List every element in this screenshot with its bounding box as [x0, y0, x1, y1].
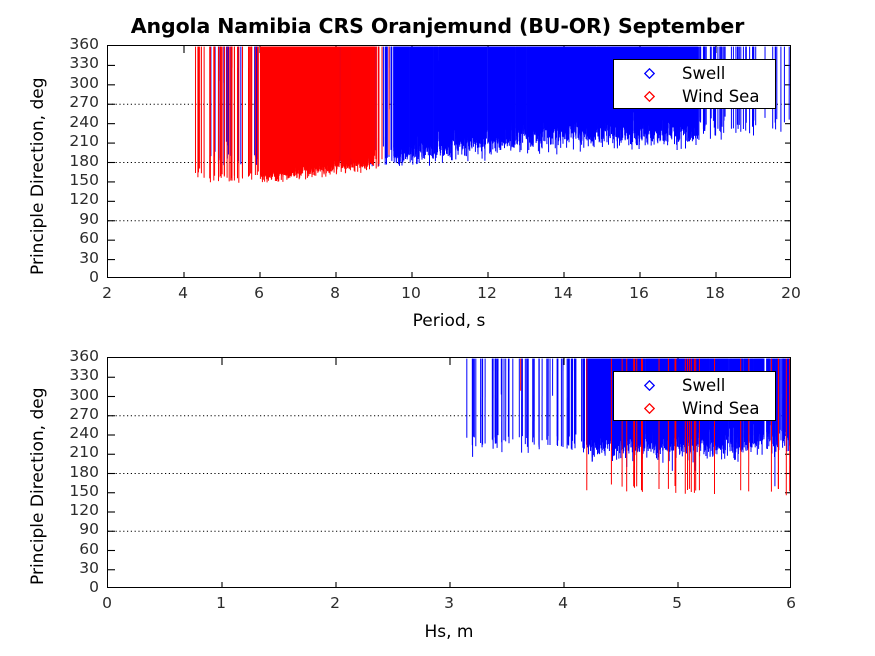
x-axis-label-bottom: Hs, m: [107, 622, 791, 642]
y-tick-label: 120: [43, 501, 99, 519]
y-tick-label: 300: [43, 74, 99, 92]
y-tick-label: 120: [43, 190, 99, 208]
x-tick-label: 6: [766, 594, 816, 612]
y-tick-label: 240: [43, 113, 99, 131]
y-tick-label: 150: [43, 171, 99, 189]
y-tick-label: 360: [43, 35, 99, 53]
y-tick-label: 240: [43, 424, 99, 442]
diamond-icon-wind-sea: [640, 84, 658, 108]
x-tick-label: 20: [766, 284, 816, 302]
diamond-icon-swell-bottom: [640, 373, 658, 397]
y-tick-label: 60: [43, 229, 99, 247]
y-tick-label: 270: [43, 405, 99, 423]
x-tick-label: 2: [82, 284, 132, 302]
y-tick-label: 270: [43, 93, 99, 111]
y-tick-label: 210: [43, 132, 99, 150]
series-wind-sea: [196, 47, 390, 183]
legend-entry-swell[interactable]: Swell: [614, 61, 775, 85]
x-tick-label: 18: [690, 284, 740, 302]
figure-title: Angola Namibia CRS Oranjemund (BU-OR) Se…: [0, 14, 875, 38]
x-tick-label: 2: [310, 594, 360, 612]
legend-entry-swell-bottom[interactable]: Swell: [614, 373, 775, 397]
legend-label-swell-bottom: Swell: [682, 376, 725, 395]
y-tick-label: 30: [43, 249, 99, 267]
x-tick-label: 3: [424, 594, 474, 612]
x-tick-label: 6: [234, 284, 284, 302]
x-tick-label: 10: [386, 284, 436, 302]
legend-label-wind-sea-bottom: Wind Sea: [682, 399, 759, 418]
y-tick-label: 90: [43, 520, 99, 538]
y-tick-label: 180: [43, 463, 99, 481]
y-tick-label: 330: [43, 54, 99, 72]
y-tick-label: 150: [43, 482, 99, 500]
x-tick-label: 14: [538, 284, 588, 302]
legend-entry-wind-sea-bottom[interactable]: Wind Sea: [614, 396, 775, 420]
x-tick-label: 0: [82, 594, 132, 612]
legend-top: Swell Wind Sea: [613, 59, 776, 109]
y-tick-label: 300: [43, 386, 99, 404]
legend-entry-wind-sea[interactable]: Wind Sea: [614, 84, 775, 108]
x-tick-label: 1: [196, 594, 246, 612]
y-tick-label: 60: [43, 540, 99, 558]
x-tick-label: 5: [652, 594, 702, 612]
y-tick-label: 330: [43, 366, 99, 384]
x-tick-label: 4: [158, 284, 208, 302]
diamond-icon-swell: [640, 61, 658, 85]
y-tick-label: 90: [43, 210, 99, 228]
y-tick-label: 30: [43, 559, 99, 577]
y-tick-label: 360: [43, 347, 99, 365]
diamond-icon-wind-sea-bottom: [640, 396, 658, 420]
x-tick-label: 12: [462, 284, 512, 302]
x-axis-label-top: Period, s: [107, 311, 791, 331]
x-tick-label: 8: [310, 284, 360, 302]
legend-bottom: Swell Wind Sea: [613, 371, 776, 421]
legend-label-swell: Swell: [682, 64, 725, 83]
x-tick-label: 4: [538, 594, 588, 612]
y-tick-label: 180: [43, 152, 99, 170]
x-tick-label: 16: [614, 284, 664, 302]
figure-canvas: Angola Namibia CRS Oranjemund (BU-OR) Se…: [0, 0, 875, 656]
legend-label-wind-sea: Wind Sea: [682, 87, 759, 106]
y-tick-label: 210: [43, 443, 99, 461]
